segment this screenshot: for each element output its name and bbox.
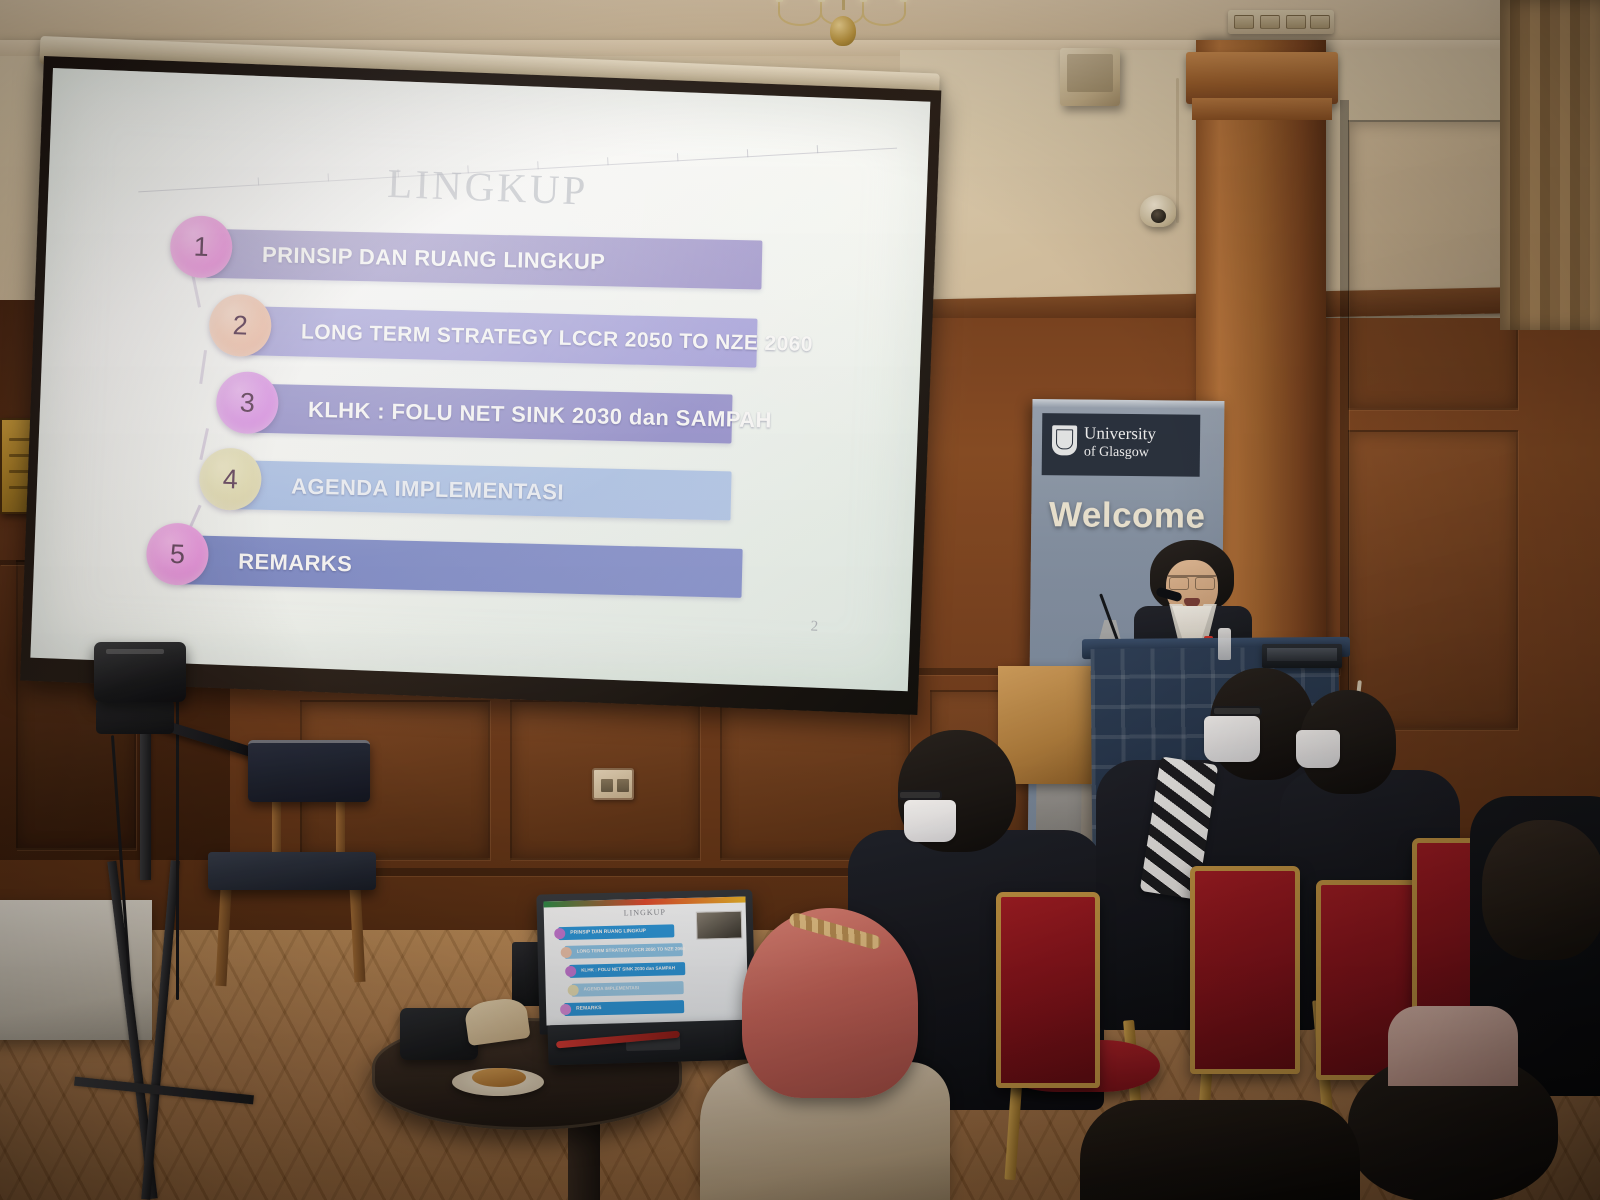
laptop-video-thumbnail <box>696 911 743 940</box>
audience-glasses <box>1212 706 1262 716</box>
pilaster-capital <box>1186 52 1338 104</box>
slide-connector <box>199 350 207 384</box>
tripod-head <box>96 700 174 734</box>
laptop-screen: LINGKUP PRINSIP DAN RUANG LINGKUP LONG T… <box>543 897 748 1026</box>
audience-glasses <box>898 790 942 800</box>
university-name: University of Glasgow <box>1084 424 1156 463</box>
lectern-side-panel <box>998 666 1104 784</box>
banquet-chair-backrest <box>996 892 1100 1088</box>
speaker-icon <box>1060 48 1120 106</box>
banner-welcome-headline: Welcome <box>1031 495 1223 537</box>
chandelier-icon <box>760 0 930 54</box>
slide-row-label: REMARKS <box>238 548 353 577</box>
audience-member <box>1080 1100 1360 1200</box>
chair-strut <box>272 800 281 860</box>
tripod-column <box>140 730 151 880</box>
university-crest-icon <box>1052 425 1077 455</box>
wall-panel <box>1348 120 1518 410</box>
power-socket-icon <box>592 768 634 800</box>
laptop-icon: LINGKUP PRINSIP DAN RUANG LINGKUP LONG T… <box>536 889 755 1034</box>
pilaster-capital-band <box>1192 98 1332 120</box>
cable <box>176 700 179 1000</box>
slide-row-list: PRINSIP DAN RUANG LINGKUP 1 LONG TERM ST… <box>153 215 907 628</box>
slide-row-label: KLHK : FOLU NET SINK 2030 dan SAMPAH <box>308 396 772 433</box>
cctv-camera-icon <box>1140 195 1176 227</box>
slide-row-bar: LONG TERM STRATEGY LCCR 2050 TO NZE 2060 <box>244 306 757 367</box>
university-logo-block: University of Glasgow <box>1042 413 1201 477</box>
conference-hall-photo: LINGKUP PRINSIP DAN RUANG LINGKUP 1 <box>0 0 1600 1200</box>
chair-backrest <box>248 740 370 802</box>
wall-panel <box>1348 430 1518 730</box>
slide-row-label: LONG TERM STRATEGY LCCR 2050 TO NZE 2060 <box>301 320 813 357</box>
laptop-icon <box>1262 644 1342 668</box>
slide-row-bar: KLHK : FOLU NET SINK 2030 dan SAMPAH <box>252 384 733 444</box>
laptop-slide-row-label: REMARKS <box>576 1005 601 1012</box>
audience-face-mask <box>1204 716 1260 762</box>
presenter-glasses <box>1168 575 1216 586</box>
university-name-line1: University <box>1084 424 1156 444</box>
projected-slide: LINGKUP PRINSIP DAN RUANG LINGKUP 1 <box>30 68 930 691</box>
pastry <box>472 1068 526 1087</box>
slide-content: LINGKUP PRINSIP DAN RUANG LINGKUP 1 <box>30 68 930 691</box>
audience-member-clothing <box>1388 1006 1518 1086</box>
slide-row-label: AGENDA IMPLEMENTASI <box>291 473 564 505</box>
audience-face-mask <box>1296 730 1340 768</box>
power-socket-icon <box>1228 10 1334 34</box>
banner-top-rail <box>1032 399 1224 409</box>
slide-row-label: PRINSIP DAN RUANG LINGKUP <box>262 242 606 275</box>
audience-face-mask <box>904 800 956 842</box>
slide-row-bar: REMARKS <box>182 535 743 598</box>
bottle-icon <box>1218 628 1231 660</box>
banquet-chair-backrest <box>1190 866 1300 1074</box>
university-name-line2: of Glasgow <box>1084 443 1156 463</box>
camera-cable <box>1176 78 1179 223</box>
chair-seat <box>208 852 376 890</box>
chair-strut <box>336 800 345 860</box>
window-curtain <box>1500 0 1600 330</box>
slide-row-bar: PRINSIP DAN RUANG LINGKUP <box>206 229 763 290</box>
video-camera-icon <box>94 642 186 702</box>
audience-member-head <box>1482 820 1600 960</box>
slide-row-bar: AGENDA IMPLEMENTASI <box>235 460 732 520</box>
slide-page-number: 2 <box>810 619 818 636</box>
